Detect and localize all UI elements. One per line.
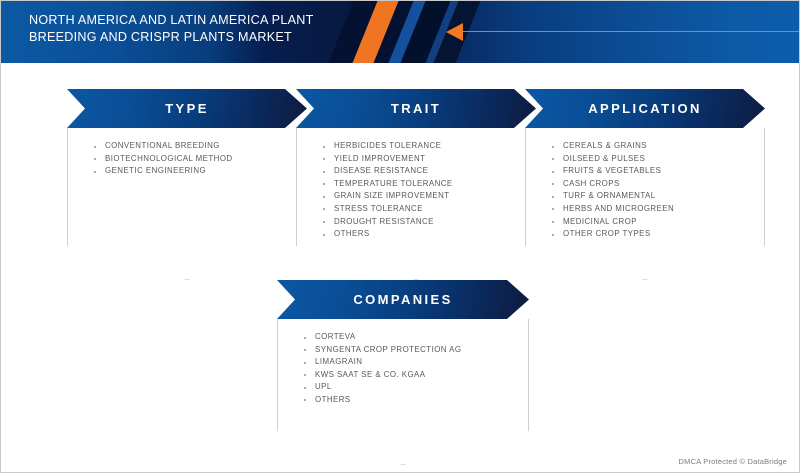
- footer-attribution: DMCA Protected © DataBridge: [679, 457, 787, 466]
- list-item: LIMAGRAIN: [302, 356, 518, 369]
- list-item: OTHERS: [302, 394, 518, 407]
- header-banner: NORTH AMERICA AND LATIN AMERICA PLANT BR…: [1, 1, 800, 63]
- list-item: CORTEVA: [302, 331, 518, 344]
- section-card-type: CONVENTIONAL BREEDING BIOTECHNOLOGICAL M…: [67, 128, 307, 280]
- list-item: HERBS AND MICROGREEN: [550, 203, 754, 216]
- section-header-type: TYPE: [67, 89, 307, 128]
- section-label-type: TYPE: [165, 101, 209, 116]
- section-card-application: CEREALS & GRAINS OILSEED & PULSES FRUITS…: [525, 128, 765, 280]
- list-item: BIOTECHNOLOGICAL METHOD: [92, 153, 296, 166]
- item-list-application: CEREALS & GRAINS OILSEED & PULSES FRUITS…: [526, 140, 764, 241]
- section-header-companies: COMPANIES: [277, 280, 529, 319]
- list-item: OTHER CROP TYPES: [550, 228, 754, 241]
- list-item: OTHERS: [321, 228, 525, 241]
- list-item: GENETIC ENGINEERING: [92, 165, 296, 178]
- section-application: APPLICATION CEREALS & GRAINS OILSEED & P…: [525, 89, 765, 280]
- section-header-trait: TRAIT: [296, 89, 536, 128]
- list-item: CEREALS & GRAINS: [550, 140, 754, 153]
- list-item: GRAIN SIZE IMPROVEMENT: [321, 190, 525, 203]
- list-item: FRUITS & VEGETABLES: [550, 165, 754, 178]
- list-item: SYNGENTA CROP PROTECTION AG: [302, 344, 518, 357]
- list-item: CASH CROPS: [550, 178, 754, 191]
- list-item: TURF & ORNAMENTAL: [550, 190, 754, 203]
- list-item: HERBICIDES TOLERANCE: [321, 140, 525, 153]
- list-item: OILSEED & PULSES: [550, 153, 754, 166]
- section-label-companies: COMPANIES: [353, 292, 452, 307]
- item-list-type: CONVENTIONAL BREEDING BIOTECHNOLOGICAL M…: [68, 140, 306, 178]
- list-item: DISEASE RESISTANCE: [321, 165, 525, 178]
- section-label-application: APPLICATION: [588, 101, 702, 116]
- left-arrow-icon: [446, 23, 463, 41]
- list-item: YIELD IMPROVEMENT: [321, 153, 525, 166]
- list-item: MEDICINAL CROP: [550, 216, 754, 229]
- section-card-companies: CORTEVA SYNGENTA CROP PROTECTION AG LIMA…: [277, 319, 529, 465]
- section-header-application: APPLICATION: [525, 89, 765, 128]
- list-item: TEMPERATURE TOLERANCE: [321, 178, 525, 191]
- arrow-line: [463, 31, 800, 32]
- section-type: TYPE CONVENTIONAL BREEDING BIOTECHNOLOGI…: [67, 89, 307, 280]
- section-trait: TRAIT HERBICIDES TOLERANCE YIELD IMPROVE…: [296, 89, 536, 280]
- page-title: NORTH AMERICA AND LATIN AMERICA PLANT BR…: [29, 12, 329, 46]
- item-list-companies: CORTEVA SYNGENTA CROP PROTECTION AG LIMA…: [278, 331, 528, 407]
- list-item: DROUGHT RESISTANCE: [321, 216, 525, 229]
- list-item: KWS SAAT SE & CO. KGAA: [302, 369, 518, 382]
- list-item: STRESS TOLERANCE: [321, 203, 525, 216]
- item-list-trait: HERBICIDES TOLERANCE YIELD IMPROVEMENT D…: [297, 140, 535, 241]
- list-item: CONVENTIONAL BREEDING: [92, 140, 296, 153]
- section-companies: COMPANIES CORTEVA SYNGENTA CROP PROTECTI…: [277, 280, 529, 465]
- infographic-page: NORTH AMERICA AND LATIN AMERICA PLANT BR…: [0, 0, 800, 473]
- list-item: UPL: [302, 381, 518, 394]
- section-card-trait: HERBICIDES TOLERANCE YIELD IMPROVEMENT D…: [296, 128, 536, 280]
- section-label-trait: TRAIT: [391, 101, 441, 116]
